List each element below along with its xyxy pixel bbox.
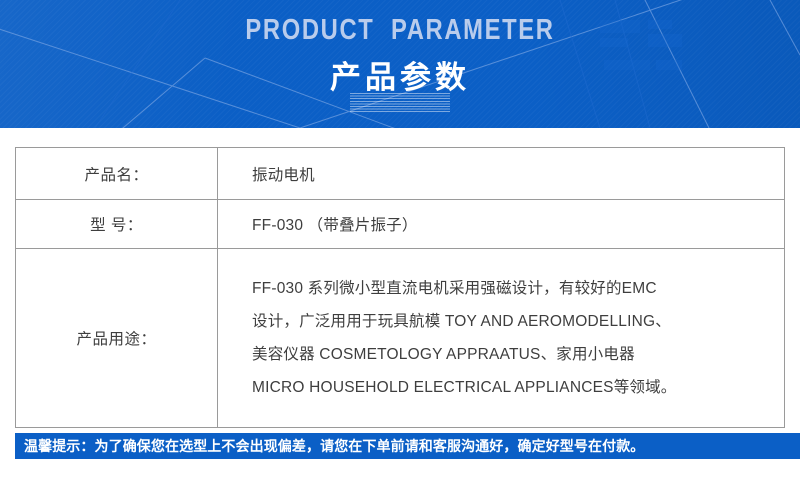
table-row: 型 号： FF-030 （带叠片振子） bbox=[16, 200, 785, 249]
row-label-model-number: 型 号： bbox=[16, 200, 218, 249]
notice-bar: 温馨提示：为了确保您在选型上不会出现偏差，请您在下单前请和客服沟通好，确定好型号… bbox=[15, 433, 800, 459]
table-row: 产品名： 振动电机 bbox=[16, 148, 785, 200]
header-banner: PRODUCT PARAMETER 产品参数 bbox=[0, 0, 800, 128]
banner-title-english: PRODUCT PARAMETER bbox=[72, 14, 728, 47]
row-label-product-name: 产品名： bbox=[16, 148, 218, 200]
row-value-model-number: FF-030 （带叠片振子） bbox=[218, 200, 785, 249]
table-row: 产品用途： FF-030 系列微小型直流电机采用强磁设计，有较好的EMC 设计，… bbox=[16, 249, 785, 428]
product-parameter-page: PRODUCT PARAMETER 产品参数 产品名： 振动电机 型 号： FF… bbox=[0, 0, 800, 500]
product-parameter-table: 产品名： 振动电机 型 号： FF-030 （带叠片振子） 产品用途： FF-0… bbox=[15, 147, 785, 428]
row-value-product-usage: FF-030 系列微小型直流电机采用强磁设计，有较好的EMC 设计，广泛用用于玩… bbox=[218, 249, 785, 428]
row-value-product-name: 振动电机 bbox=[218, 148, 785, 200]
banner-title-chinese: 产品参数 bbox=[0, 52, 800, 97]
row-label-product-usage: 产品用途： bbox=[16, 249, 218, 428]
banner-stripe-decoration bbox=[350, 93, 450, 112]
